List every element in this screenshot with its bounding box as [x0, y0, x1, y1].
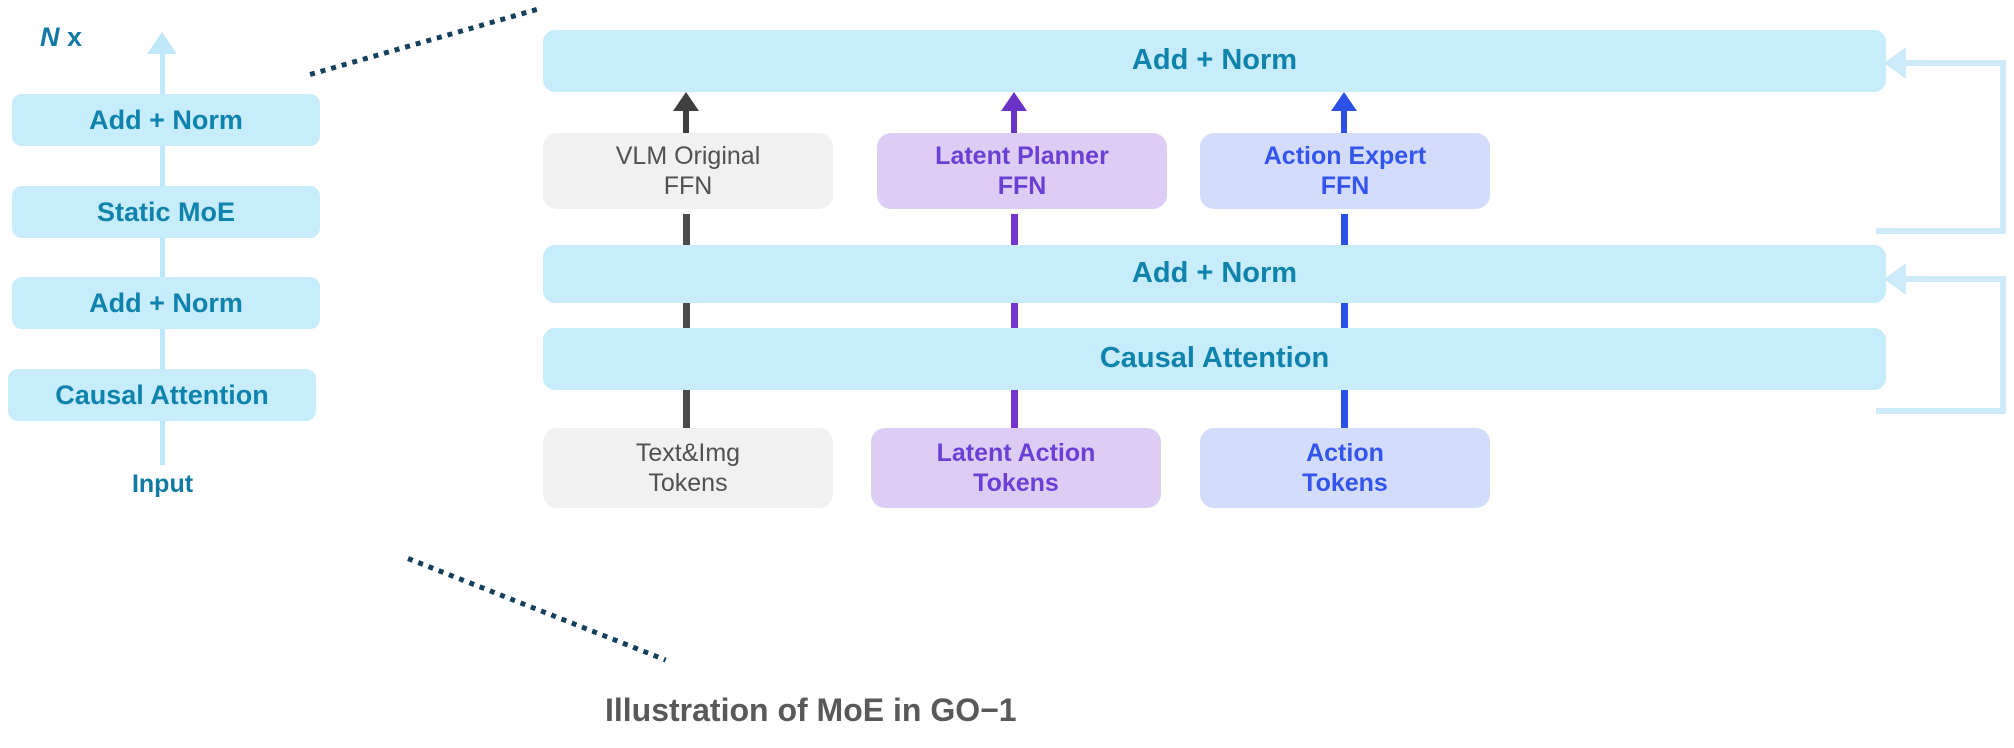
left-input-label: Input [60, 470, 265, 499]
left-block-add-norm-2: Add + Norm [12, 94, 320, 146]
residual-lower-arrow-stem [1905, 276, 2006, 282]
left-block-add-norm-1: Add + Norm [12, 277, 320, 329]
stream1-attn-to-addnorm-line [683, 300, 690, 328]
ffn-latent-planner-label: Latent PlannerFFN [935, 141, 1109, 202]
tokens-action: ActionTokens [1200, 428, 1490, 508]
stream2-up-arrow-icon [1001, 92, 1027, 111]
repeat-count-n: N [40, 22, 60, 52]
residual-upper-vertical [2000, 60, 2006, 234]
repeat-count-x: x [60, 22, 83, 52]
right-block-causal-attention: Causal Attention [543, 328, 1886, 390]
stream1-up-arrow-icon [673, 92, 699, 111]
residual-upper-horizontal [1876, 228, 2006, 234]
guide-line-bottom [407, 556, 667, 662]
guide-line-top [309, 7, 537, 77]
ffn-vlm-original-label: VLM OriginalFFN [616, 141, 761, 202]
right-block-add-norm-top: Add + Norm [543, 30, 1886, 92]
left-block-causal-attention: Causal Attention [8, 369, 316, 421]
tokens-text-img: Text&ImgTokens [543, 428, 833, 508]
residual-lower-arrow-icon [1884, 263, 1906, 295]
figure-canvas: N x Add + Norm Static MoE Add + Norm Cau… [0, 0, 2014, 748]
left-stack-up-arrow-icon [147, 32, 177, 54]
ffn-vlm-original: VLM OriginalFFN [543, 133, 833, 209]
residual-upper-arrow-stem [1905, 60, 2006, 66]
figure-caption: Illustration of MoE in GO−1 [605, 692, 1017, 729]
left-block-static-moe: Static MoE [12, 186, 320, 238]
ffn-action-expert-label: Action ExpertFFN [1264, 141, 1427, 202]
right-block-add-norm-mid: Add + Norm [543, 245, 1886, 303]
residual-lower-vertical [2000, 276, 2006, 414]
stream3-attn-to-addnorm-line [1341, 300, 1348, 328]
repeat-count-label: N x [40, 22, 82, 53]
stream2-attn-to-addnorm-line [1011, 300, 1018, 328]
tokens-latent-action: Latent ActionTokens [871, 428, 1161, 508]
stream1-token-to-attn-line [683, 388, 690, 430]
residual-upper-arrow-icon [1884, 47, 1906, 79]
tokens-latent-action-label: Latent ActionTokens [937, 438, 1096, 499]
ffn-latent-planner: Latent PlannerFFN [877, 133, 1167, 209]
stream3-token-to-attn-line [1341, 388, 1348, 430]
ffn-action-expert: Action ExpertFFN [1200, 133, 1490, 209]
stream2-token-to-attn-line [1011, 388, 1018, 430]
tokens-action-label: ActionTokens [1302, 438, 1388, 499]
residual-lower-horizontal [1876, 408, 2006, 414]
tokens-text-img-label: Text&ImgTokens [636, 438, 740, 499]
stream3-up-arrow-icon [1331, 92, 1357, 111]
